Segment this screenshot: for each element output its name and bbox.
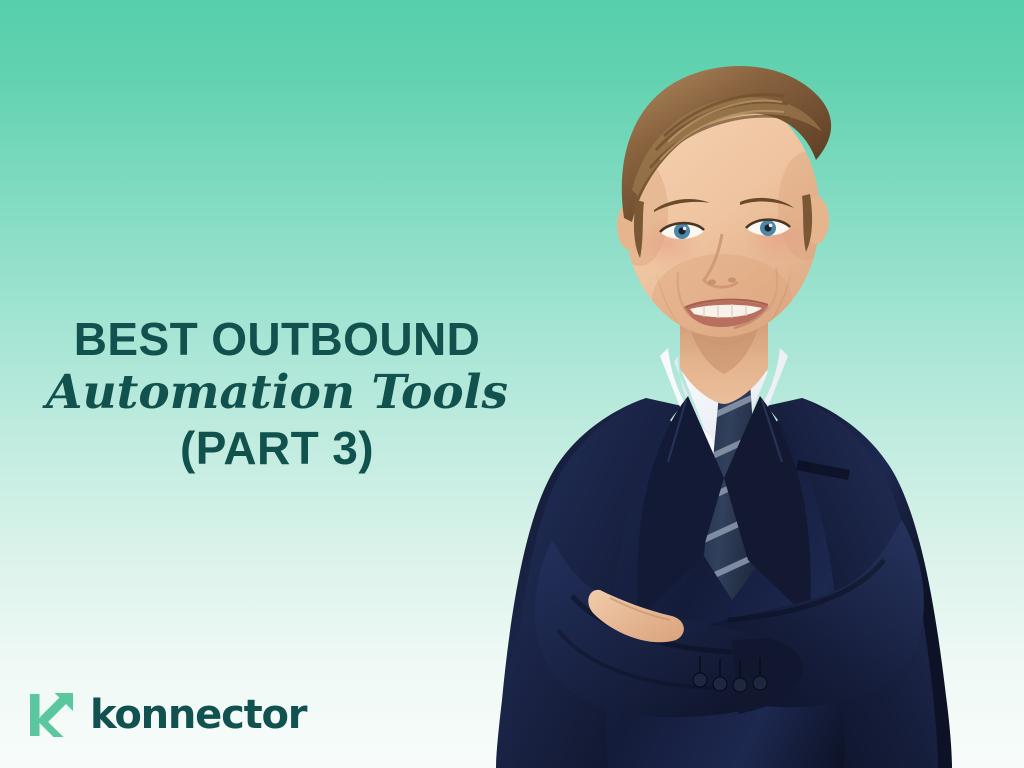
- headline-line-1: BEST OUTBOUND: [30, 316, 524, 364]
- promo-banner: BEST OUTBOUND Automation Tools (PART 3) …: [0, 0, 1024, 768]
- konnector-logo[interactable]: konnector: [28, 690, 306, 740]
- headline-line-3: (PART 3): [30, 421, 524, 475]
- konnector-k-arrow-icon: [28, 690, 76, 740]
- konnector-wordmark: konnector: [90, 695, 306, 735]
- headline-block: BEST OUTBOUND Automation Tools (PART 3): [30, 316, 524, 475]
- headline-line-2: Automation Tools: [30, 364, 524, 421]
